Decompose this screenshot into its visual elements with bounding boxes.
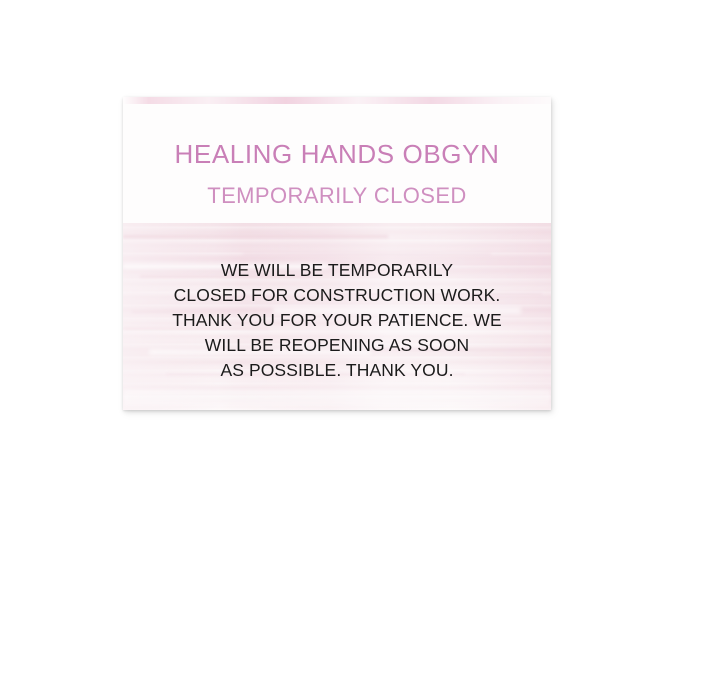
notice-line: WE WILL BE TEMPORARILY <box>123 258 551 283</box>
closure-notice-card: HEALING HANDS OBGYN TEMPORARILY CLOSED W… <box>123 97 551 410</box>
business-name-heading: HEALING HANDS OBGYN <box>123 139 551 170</box>
card-content: HEALING HANDS OBGYN TEMPORARILY CLOSED W… <box>123 97 551 410</box>
notice-body-text: WE WILL BE TEMPORARILY CLOSED FOR CONSTR… <box>123 258 551 383</box>
notice-line: WILL BE REOPENING AS SOON <box>123 333 551 358</box>
notice-line: CLOSED FOR CONSTRUCTION WORK. <box>123 283 551 308</box>
notice-line: AS POSSIBLE. THANK YOU. <box>123 358 551 383</box>
page-canvas: HEALING HANDS OBGYN TEMPORARILY CLOSED W… <box>0 0 720 700</box>
notice-line: THANK YOU FOR YOUR PATIENCE. WE <box>123 308 551 333</box>
closure-status-subheading: TEMPORARILY CLOSED <box>123 183 551 209</box>
